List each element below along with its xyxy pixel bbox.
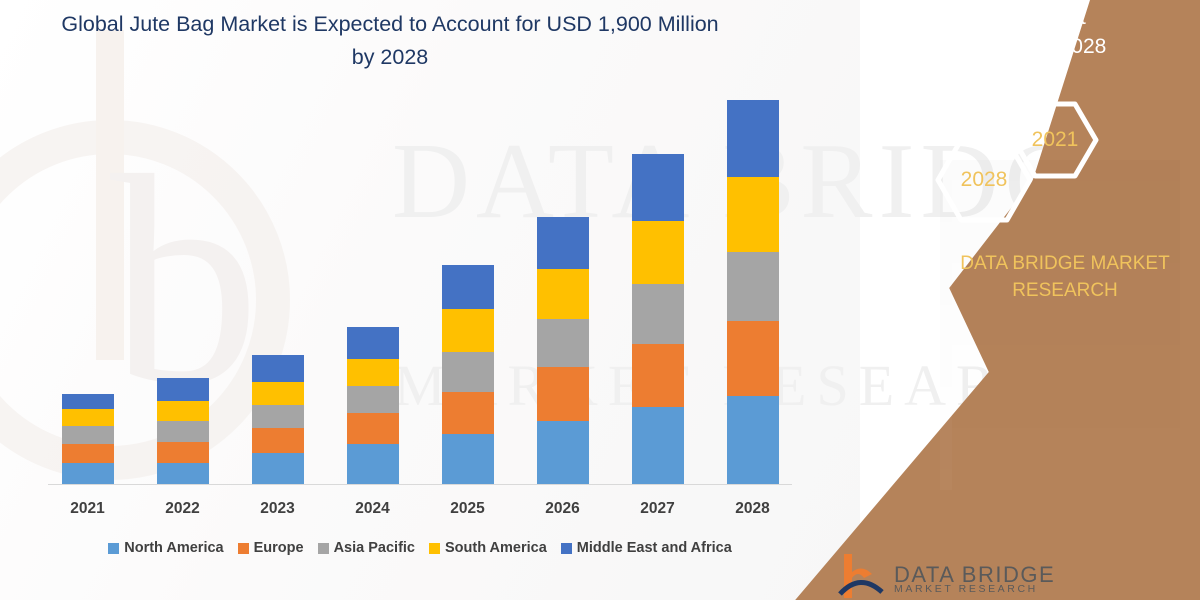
- legend-label: Europe: [254, 540, 304, 556]
- bar-segment[interactable]: [252, 453, 304, 484]
- bar-segment[interactable]: [62, 394, 114, 409]
- x-axis-label-2027: 2027: [632, 500, 684, 518]
- bar-segment[interactable]: [62, 463, 114, 484]
- bar-2023[interactable]: [252, 355, 304, 484]
- bar-segment[interactable]: [442, 265, 494, 309]
- bar-segment[interactable]: [62, 444, 114, 463]
- legend-item[interactable]: North America: [108, 540, 223, 556]
- legend-swatch-icon: [429, 543, 440, 554]
- brand-line-2: RESEARCH: [940, 277, 1190, 304]
- legend-label: Asia Pacific: [334, 540, 415, 556]
- bridge-logo-icon: [838, 552, 884, 598]
- bar-segment[interactable]: [537, 269, 589, 319]
- bar-segment[interactable]: [632, 221, 684, 284]
- legend-label: North America: [124, 540, 223, 556]
- legend-label: Middle East and Africa: [577, 540, 732, 556]
- bar-segment[interactable]: [442, 434, 494, 484]
- x-axis-labels: 20212022202320242025202620272028: [40, 500, 800, 518]
- x-axis-label-2024: 2024: [347, 500, 399, 518]
- bar-group: [40, 100, 800, 484]
- hexagon-2021-label: 2021: [1032, 128, 1079, 152]
- bar-segment[interactable]: [62, 426, 114, 443]
- brand-line-1: DATA BRIDGE MARKET: [940, 250, 1190, 277]
- bar-segment[interactable]: [157, 442, 209, 463]
- bar-2022[interactable]: [157, 378, 209, 484]
- bar-segment[interactable]: [727, 100, 779, 177]
- chart-legend: North AmericaEuropeAsia PacificSouth Ame…: [40, 540, 800, 556]
- x-axis-line: [48, 484, 792, 485]
- legend-swatch-icon: [238, 543, 249, 554]
- x-axis-label-2028: 2028: [727, 500, 779, 518]
- bar-segment[interactable]: [252, 382, 304, 405]
- bar-segment[interactable]: [347, 444, 399, 484]
- legend-item[interactable]: South America: [429, 540, 547, 556]
- x-axis-label-2023: 2023: [252, 500, 304, 518]
- brand-name: DATA BRIDGE MARKET RESEARCH: [940, 250, 1190, 304]
- bar-2028[interactable]: [727, 100, 779, 484]
- bar-segment[interactable]: [252, 355, 304, 382]
- bar-2027[interactable]: [632, 154, 684, 484]
- bar-segment[interactable]: [537, 319, 589, 367]
- bar-2026[interactable]: [537, 217, 589, 484]
- bar-segment[interactable]: [442, 392, 494, 434]
- bar-segment[interactable]: [347, 327, 399, 360]
- chart-title: Global Jute Bag Market is Expected to Ac…: [60, 8, 720, 74]
- hexagon-group: 2028 2021: [930, 100, 1130, 230]
- bar-segment[interactable]: [62, 409, 114, 426]
- x-axis-label-2026: 2026: [537, 500, 589, 518]
- legend-swatch-icon: [108, 543, 119, 554]
- bar-segment[interactable]: [537, 367, 589, 421]
- x-axis-label-2022: 2022: [157, 500, 209, 518]
- bar-2025[interactable]: [442, 265, 494, 484]
- bar-segment[interactable]: [632, 344, 684, 407]
- bar-segment[interactable]: [442, 309, 494, 351]
- bar-segment[interactable]: [632, 154, 684, 221]
- bar-segment[interactable]: [727, 177, 779, 252]
- panel-heading-line-1: Global Jute Bag Market, Forecast: [900, 0, 1190, 32]
- bar-segment[interactable]: [157, 463, 209, 484]
- legend-label: South America: [445, 540, 547, 556]
- panel-heading-line-2: 2021 to 2028: [900, 32, 1190, 61]
- bar-segment[interactable]: [727, 396, 779, 484]
- bar-segment[interactable]: [347, 386, 399, 413]
- legend-swatch-icon: [561, 543, 572, 554]
- hexagon-2021: 2021: [1010, 100, 1100, 180]
- bar-segment[interactable]: [252, 428, 304, 453]
- company-logo-subtext: MARKET RESEARCH: [894, 583, 1038, 595]
- bar-segment[interactable]: [252, 405, 304, 428]
- bar-segment[interactable]: [632, 407, 684, 484]
- bar-segment[interactable]: [157, 378, 209, 401]
- plot-area: [40, 100, 800, 485]
- x-axis-label-2021: 2021: [62, 500, 114, 518]
- bar-segment[interactable]: [632, 284, 684, 344]
- bar-segment[interactable]: [157, 401, 209, 420]
- legend-item[interactable]: Europe: [238, 540, 304, 556]
- bar-2024[interactable]: [347, 327, 399, 484]
- infographic-canvas: b DATA BRIDGE MARKET RESEARCH Global Jut…: [0, 0, 1200, 600]
- legend-item[interactable]: Asia Pacific: [318, 540, 415, 556]
- bar-segment[interactable]: [157, 421, 209, 442]
- bar-segment[interactable]: [537, 217, 589, 269]
- bar-segment[interactable]: [347, 413, 399, 444]
- legend-item[interactable]: Middle East and Africa: [561, 540, 732, 556]
- legend-swatch-icon: [318, 543, 329, 554]
- bar-segment[interactable]: [442, 352, 494, 392]
- panel-heading: Global Jute Bag Market, Forecast 2021 to…: [900, 0, 1190, 61]
- bar-2021[interactable]: [62, 394, 114, 484]
- bar-segment[interactable]: [727, 321, 779, 396]
- bar-segment[interactable]: [537, 421, 589, 484]
- x-axis-label-2025: 2025: [442, 500, 494, 518]
- bar-segment[interactable]: [347, 359, 399, 386]
- bar-segment[interactable]: [727, 252, 779, 321]
- hexagon-2028-label: 2028: [961, 168, 1008, 192]
